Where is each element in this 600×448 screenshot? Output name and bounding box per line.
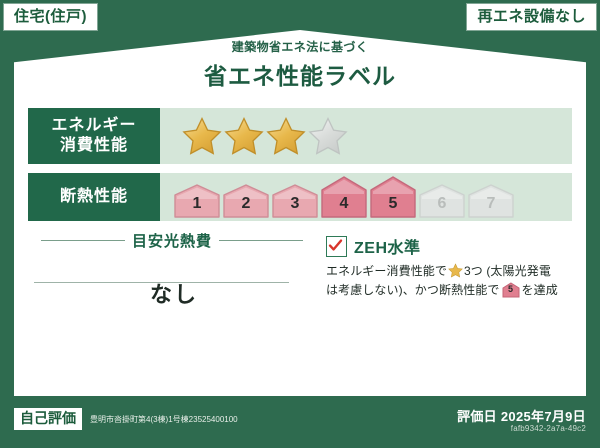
zeh-section: ZEH水準 エネルギー消費性能で3つ (太陽光発電 は考慮しない)、かつ断熱性能… bbox=[320, 230, 572, 309]
insulation-level-badge: 5 bbox=[370, 176, 416, 218]
utility-cost-section: 目安光熱費 なし bbox=[28, 230, 320, 309]
evaluation-date-label: 評価日 bbox=[457, 409, 497, 424]
evaluation-date-value: 2025年7月9日 bbox=[501, 409, 586, 424]
label-subtitle: 建築物省エネ法に基づく bbox=[14, 38, 586, 55]
zeh-description: エネルギー消費性能で3つ (太陽光発電 は考慮しない)、かつ断熱性能で5を達成 bbox=[326, 262, 572, 299]
zeh-desc-part1: エネルギー消費性能で bbox=[326, 264, 447, 278]
star-icon-inline bbox=[448, 263, 463, 278]
insulation-level-scale: 1234567 bbox=[174, 176, 514, 218]
lower-section: 目安光熱費 なし ZEH水準 エネルギー消費性能で3つ (太陽光発電 は考慮し bbox=[28, 230, 572, 309]
check-icon bbox=[328, 238, 343, 253]
evaluation-date: 評価日 2025年7月9日 bbox=[457, 406, 586, 425]
insulation-level-number: 3 bbox=[272, 195, 318, 213]
page-title: 省エネ性能ラベル bbox=[14, 57, 586, 91]
star-icon-filled bbox=[224, 116, 264, 156]
utility-cost-rule bbox=[34, 282, 289, 283]
insulation-level-badge: 7 bbox=[468, 184, 514, 218]
property-address: 豊明市沓掛町第4(3棟)1号棟23525400100 bbox=[90, 414, 238, 425]
insulation-level-number: 5 bbox=[370, 195, 416, 213]
insulation-level-number: 1 bbox=[174, 195, 220, 213]
energy-performance-value bbox=[160, 108, 572, 164]
insulation-level-badge: 4 bbox=[321, 176, 367, 218]
insulation-level-badge: 1 bbox=[174, 184, 220, 218]
badge-building-type: 住宅(住戸) bbox=[4, 4, 97, 30]
row-energy-performance: エネルギー 消費性能 bbox=[28, 108, 572, 164]
insulation-level-number: 4 bbox=[321, 195, 367, 213]
evaluation-type-badge: 自己評価 bbox=[14, 408, 82, 430]
insulation-level-badge: 6 bbox=[419, 184, 465, 218]
label-content: エネルギー 消費性能 断熱性能 1234567 目安光熱費 なし bbox=[14, 100, 586, 396]
insulation-level-number: 7 bbox=[468, 195, 514, 213]
insulation-level-badge: 2 bbox=[223, 184, 269, 218]
insulation-performance-label: 断熱性能 bbox=[28, 173, 160, 221]
zeh-checkbox[interactable] bbox=[326, 236, 347, 257]
footer: 自己評価 豊明市沓掛町第4(3棟)1号棟23525400100 評価日 2025… bbox=[0, 396, 600, 448]
star-icon-filled bbox=[266, 116, 306, 156]
star-icon-filled bbox=[182, 116, 222, 156]
label-house-panel: 建築物省エネ法に基づく 省エネ性能ラベル エネルギー 消費性能 断熱性能 123… bbox=[14, 30, 586, 396]
insulation-level-number: 2 bbox=[223, 195, 269, 213]
insulation-performance-value: 1234567 bbox=[160, 173, 572, 221]
zeh-title: ZEH水準 bbox=[354, 234, 421, 258]
badge-renewable-energy: 再エネ設備なし bbox=[467, 4, 596, 30]
energy-performance-label-line1: エネルギー bbox=[51, 116, 136, 136]
star-rating bbox=[182, 116, 348, 156]
star-icon-empty bbox=[308, 116, 348, 156]
zeh-desc-part2: 3つ (太陽光発電 bbox=[464, 264, 551, 278]
insulation-level-badge: 3 bbox=[272, 184, 318, 218]
utility-cost-title-text: 目安光熱費 bbox=[132, 230, 212, 251]
insulation-level-number: 6 bbox=[419, 195, 465, 213]
insulation-badge-inline-number: 5 bbox=[502, 283, 520, 297]
energy-performance-label-line2: 消費性能 bbox=[60, 136, 128, 156]
utility-cost-title: 目安光熱費 bbox=[34, 230, 310, 251]
row-insulation-performance: 断熱性能 1234567 bbox=[28, 173, 572, 221]
zeh-desc-part4: を達成 bbox=[522, 283, 558, 297]
label-hash: fafb9342-2a7a-49c2 bbox=[511, 424, 586, 433]
zeh-desc-part3: は考慮しない)、かつ断熱性能で bbox=[326, 283, 500, 297]
insulation-badge-inline: 5 bbox=[502, 282, 520, 298]
energy-performance-label: エネルギー 消費性能 bbox=[28, 108, 160, 164]
label-title-block: 建築物省エネ法に基づく 省エネ性能ラベル bbox=[14, 38, 586, 91]
zeh-header: ZEH水準 bbox=[326, 234, 572, 258]
